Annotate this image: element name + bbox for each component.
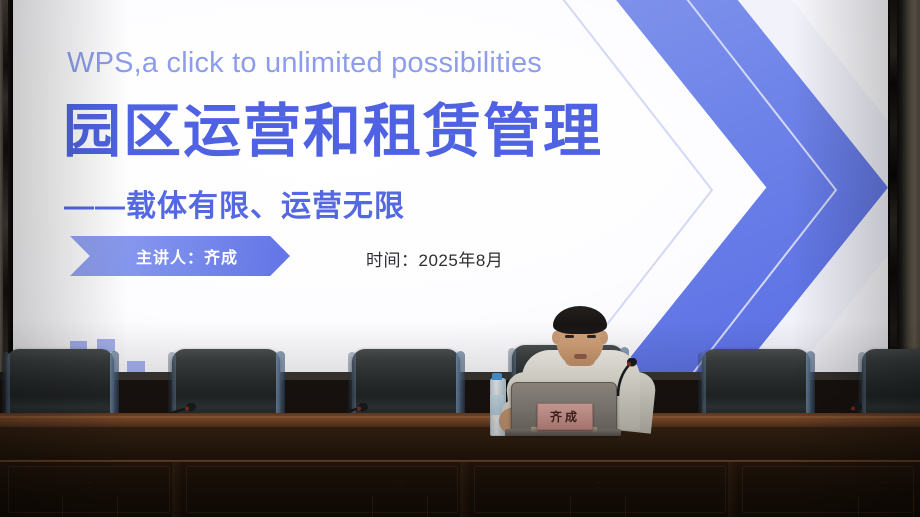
slide-title: 园区运营和租赁管理	[63, 103, 603, 161]
slide-date-label: 时间：2025年8月	[366, 246, 503, 271]
conference-table-edge	[0, 416, 920, 418]
water-bottle-cap	[492, 373, 502, 380]
presenter-mouth	[574, 354, 587, 359]
chevron-blue-shape	[568, 0, 888, 372]
desk-nameplate-text: 齐成	[550, 408, 580, 425]
conference-table-front-panel	[0, 462, 920, 517]
screen-bezel-left	[0, 0, 13, 372]
table-panel-divider	[460, 462, 470, 517]
conference-table-body	[0, 427, 920, 461]
presenter-eye-left	[565, 335, 574, 338]
presenter-eye-right	[587, 335, 596, 338]
desk-nameplate: 齐成	[537, 403, 593, 430]
presentation-room-photo: WPS,a click to unlimited possibilities 园…	[0, 0, 920, 517]
screen-bezel-right	[888, 0, 920, 380]
chevron-pale-shape	[611, 0, 888, 372]
table-panel-divider	[172, 462, 182, 517]
speaker-ribbon: 主讲人：齐成	[70, 236, 290, 276]
presenter-ear-left	[552, 331, 560, 344]
table-panel-divider	[728, 462, 738, 517]
projection-screen: WPS,a click to unlimited possibilities 园…	[13, 0, 888, 372]
presenter-ear-right	[600, 331, 608, 344]
speaker-ribbon-label: 主讲人：齐成	[122, 244, 238, 268]
slide-subtitle: ——载体有限、运营无限	[64, 181, 405, 225]
slide-brand-tagline: WPS,a click to unlimited possibilities	[67, 47, 542, 80]
conference-furniture	[0, 330, 920, 517]
